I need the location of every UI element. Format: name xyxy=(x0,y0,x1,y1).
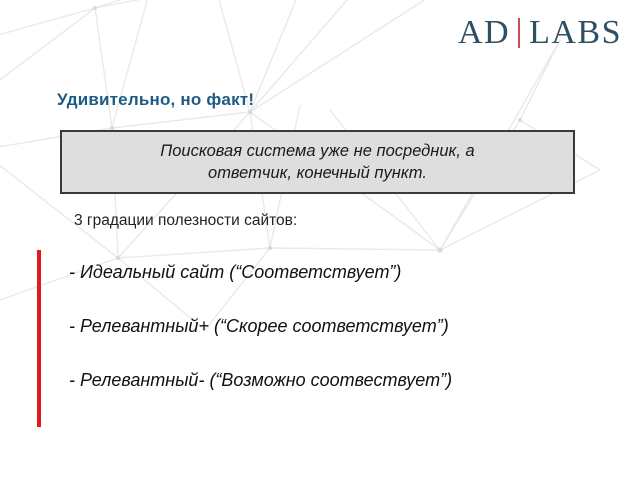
slide-canvas: AD LABS Удивительно, но факт! Поисковая … xyxy=(0,0,640,480)
quote-line-2: ответчик, конечный пункт. xyxy=(208,164,427,182)
list-item: - Релевантный+ (“Скорее соответствует”) xyxy=(69,312,614,366)
gradation-list: - Идеальный сайт (“Соответствует”) - Рел… xyxy=(69,258,614,420)
logo-word-ad: AD xyxy=(458,16,510,50)
quote-text: Поисковая система уже не посредник, а от… xyxy=(148,140,486,185)
list-item: - Идеальный сайт (“Соответствует”) xyxy=(69,258,614,312)
quote-callout-box: Поисковая система уже не посредник, а от… xyxy=(60,130,575,194)
ad-labs-logo: AD LABS xyxy=(458,16,622,50)
quote-line-1: Поисковая система уже не посредник, а xyxy=(160,142,474,160)
page-title: Удивительно, но факт! xyxy=(57,90,254,110)
red-accent-bar xyxy=(37,250,41,427)
subheading: 3 градации полезности сайтов: xyxy=(74,212,297,230)
logo-word-labs: LABS xyxy=(529,16,622,50)
list-item: - Релевантный- (“Возможно соотвествует”) xyxy=(69,366,614,420)
logo-divider xyxy=(518,18,520,48)
